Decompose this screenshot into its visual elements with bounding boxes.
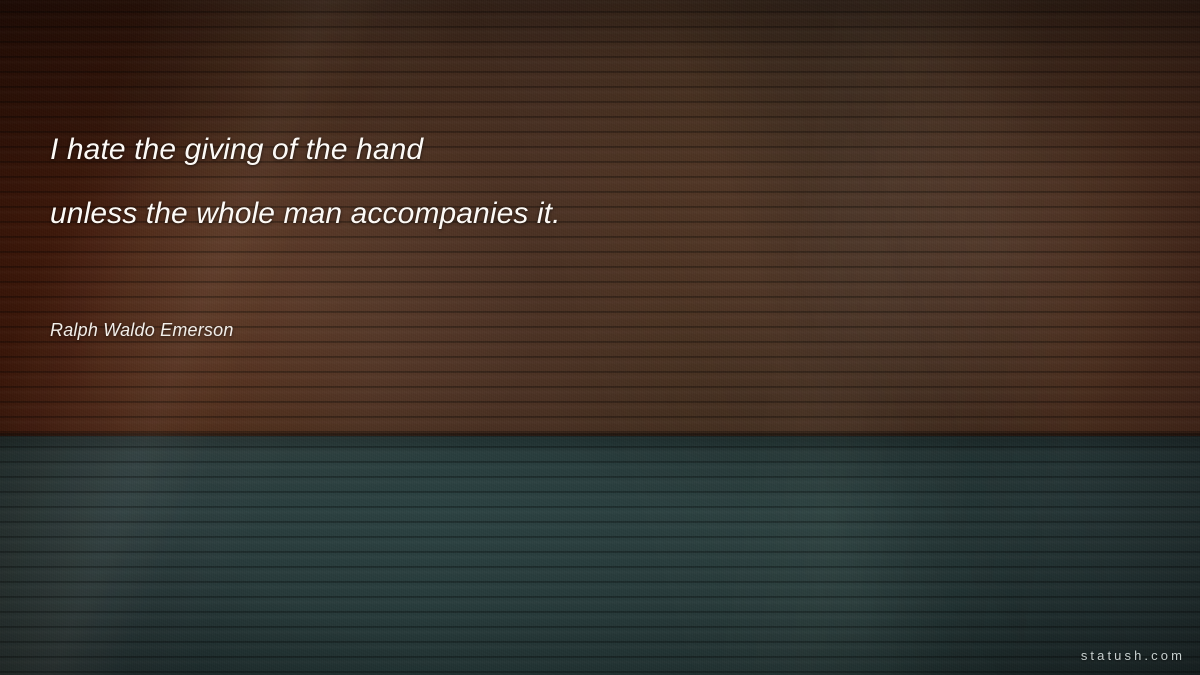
site-watermark: statush.com: [1081, 648, 1185, 663]
quote-text: I hate the giving of the hand unless the…: [50, 118, 1050, 246]
quote-line-1: I hate the giving of the hand: [50, 118, 1050, 182]
quote-line-2: unless the whole man accompanies it.: [50, 182, 1050, 246]
quote-card: I hate the giving of the hand unless the…: [0, 0, 1200, 675]
card-content: I hate the giving of the hand unless the…: [0, 0, 1200, 675]
author-attribution: Ralph Waldo Emerson: [50, 320, 234, 341]
